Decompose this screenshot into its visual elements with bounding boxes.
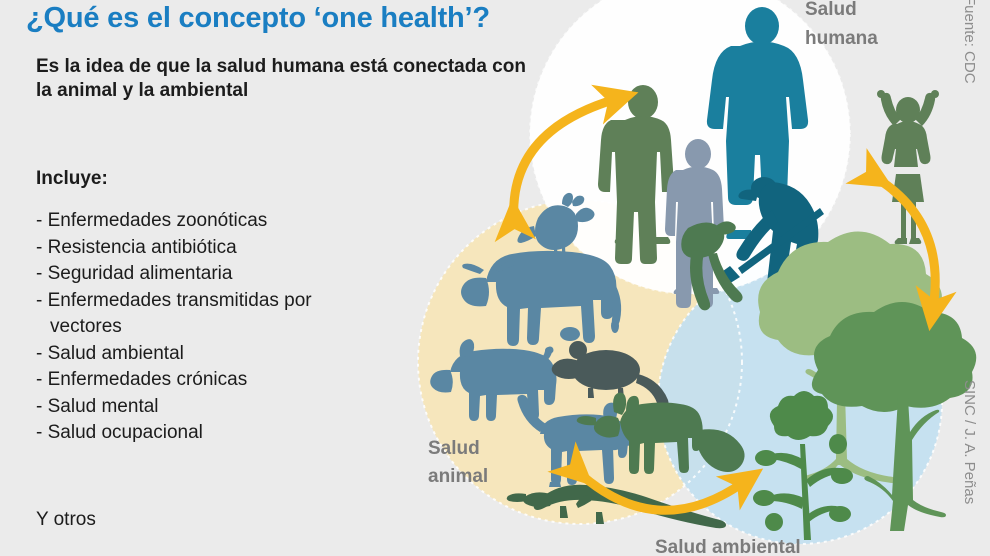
list-item: - Resistencia antibiótica (36, 235, 416, 262)
list-item: - Salud ocupacional (36, 420, 416, 447)
label-human-health-line2: humana (805, 28, 878, 49)
label-animal-health-line1: Salud (428, 438, 480, 459)
list-item: - Enfermedades zoonóticas (36, 208, 416, 235)
source-credit: Fuente: CDC (961, 0, 978, 84)
list-item: - Enfermedades transmitidas por vectores (36, 288, 416, 341)
one-health-infographic: ¿Qué es el concepto ‘one health’? Es la … (0, 0, 990, 556)
child-celebrating-icon (877, 90, 939, 244)
includes-list: - Enfermedades zoonóticas - Resistencia … (36, 208, 416, 447)
footer-note: Y otros (36, 509, 96, 531)
list-item: - Salud ambiental (36, 341, 416, 368)
list-item: - Salud mental (36, 394, 416, 421)
venn-diagram: Salud humana Salud animal Salud ambienta… (400, 0, 990, 556)
includes-heading: Incluye: (36, 168, 108, 190)
label-human-health-line1: Salud (805, 0, 857, 20)
label-environment-health: Salud ambiental (655, 537, 801, 556)
author-credit: SINC / J. A. Peñas (961, 380, 978, 504)
label-animal-health-line2: animal (428, 466, 488, 487)
list-item: - Enfermedades crónicas (36, 367, 416, 394)
list-item: - Seguridad alimentaria (36, 261, 416, 288)
